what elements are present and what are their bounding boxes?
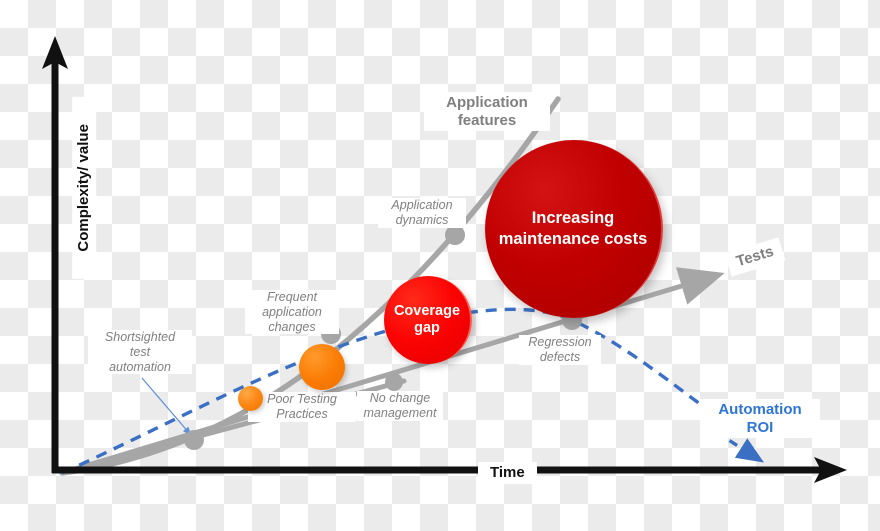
x-axis-label: Time xyxy=(478,462,537,484)
axis-y xyxy=(42,36,68,473)
bubble-coverage-gap: Coverage gap xyxy=(384,276,472,364)
annotation-application-dynamics: Application dynamics xyxy=(378,198,466,228)
bubble-orange-large xyxy=(299,344,345,390)
node-shortsighted xyxy=(184,430,204,450)
leader-line-shortsighted xyxy=(142,378,190,434)
annotation-no-change-management: No change management xyxy=(357,391,443,421)
y-axis-label: Complexity/ value xyxy=(72,97,96,279)
annotation-poor-testing-practices: Poor Testing Practices xyxy=(248,392,356,422)
node-no-change-management xyxy=(385,373,403,391)
annotation-shortsighted-test-automation: Shortsighted test automation xyxy=(88,330,192,374)
diagram-canvas: Complexity/ value Time Application featu… xyxy=(0,0,880,531)
annotation-regression-defects: Regression defects xyxy=(519,335,601,365)
bubble-orange-small xyxy=(238,386,263,411)
axis-x xyxy=(52,457,847,483)
series-label-automation-roi: Automation ROI xyxy=(700,399,820,438)
node-application-dynamics xyxy=(445,225,465,245)
bubble-increasing-maintenance-costs: Increasing maintenance costs xyxy=(485,140,663,318)
annotation-frequent-application-changes: Frequent application changes xyxy=(245,290,339,334)
series-label-application-features: Application features xyxy=(424,92,550,131)
